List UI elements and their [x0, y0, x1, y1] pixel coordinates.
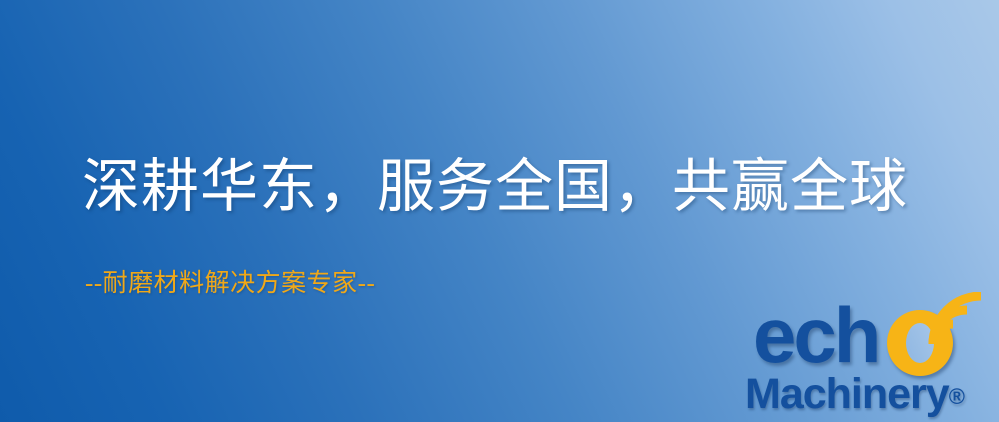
echo-machinery-logo: ech Machinery® [745, 296, 999, 422]
logo-subword-machinery: Machinery® [745, 369, 965, 422]
logo-subword-text: Machinery [745, 370, 949, 418]
logo-wordmark-echo: ech [753, 296, 878, 374]
promo-banner: 深耕华东，服务全国，共赢全球 --耐磨材料解决方案专家-- ech Machin… [0, 0, 999, 422]
registered-trademark-icon: ® [949, 384, 965, 409]
banner-headline: 深耕华东，服务全国，共赢全球 [82, 152, 908, 222]
wireless-signal-icon [927, 292, 999, 352]
banner-subheadline: --耐磨材料解决方案专家-- [85, 268, 375, 300]
